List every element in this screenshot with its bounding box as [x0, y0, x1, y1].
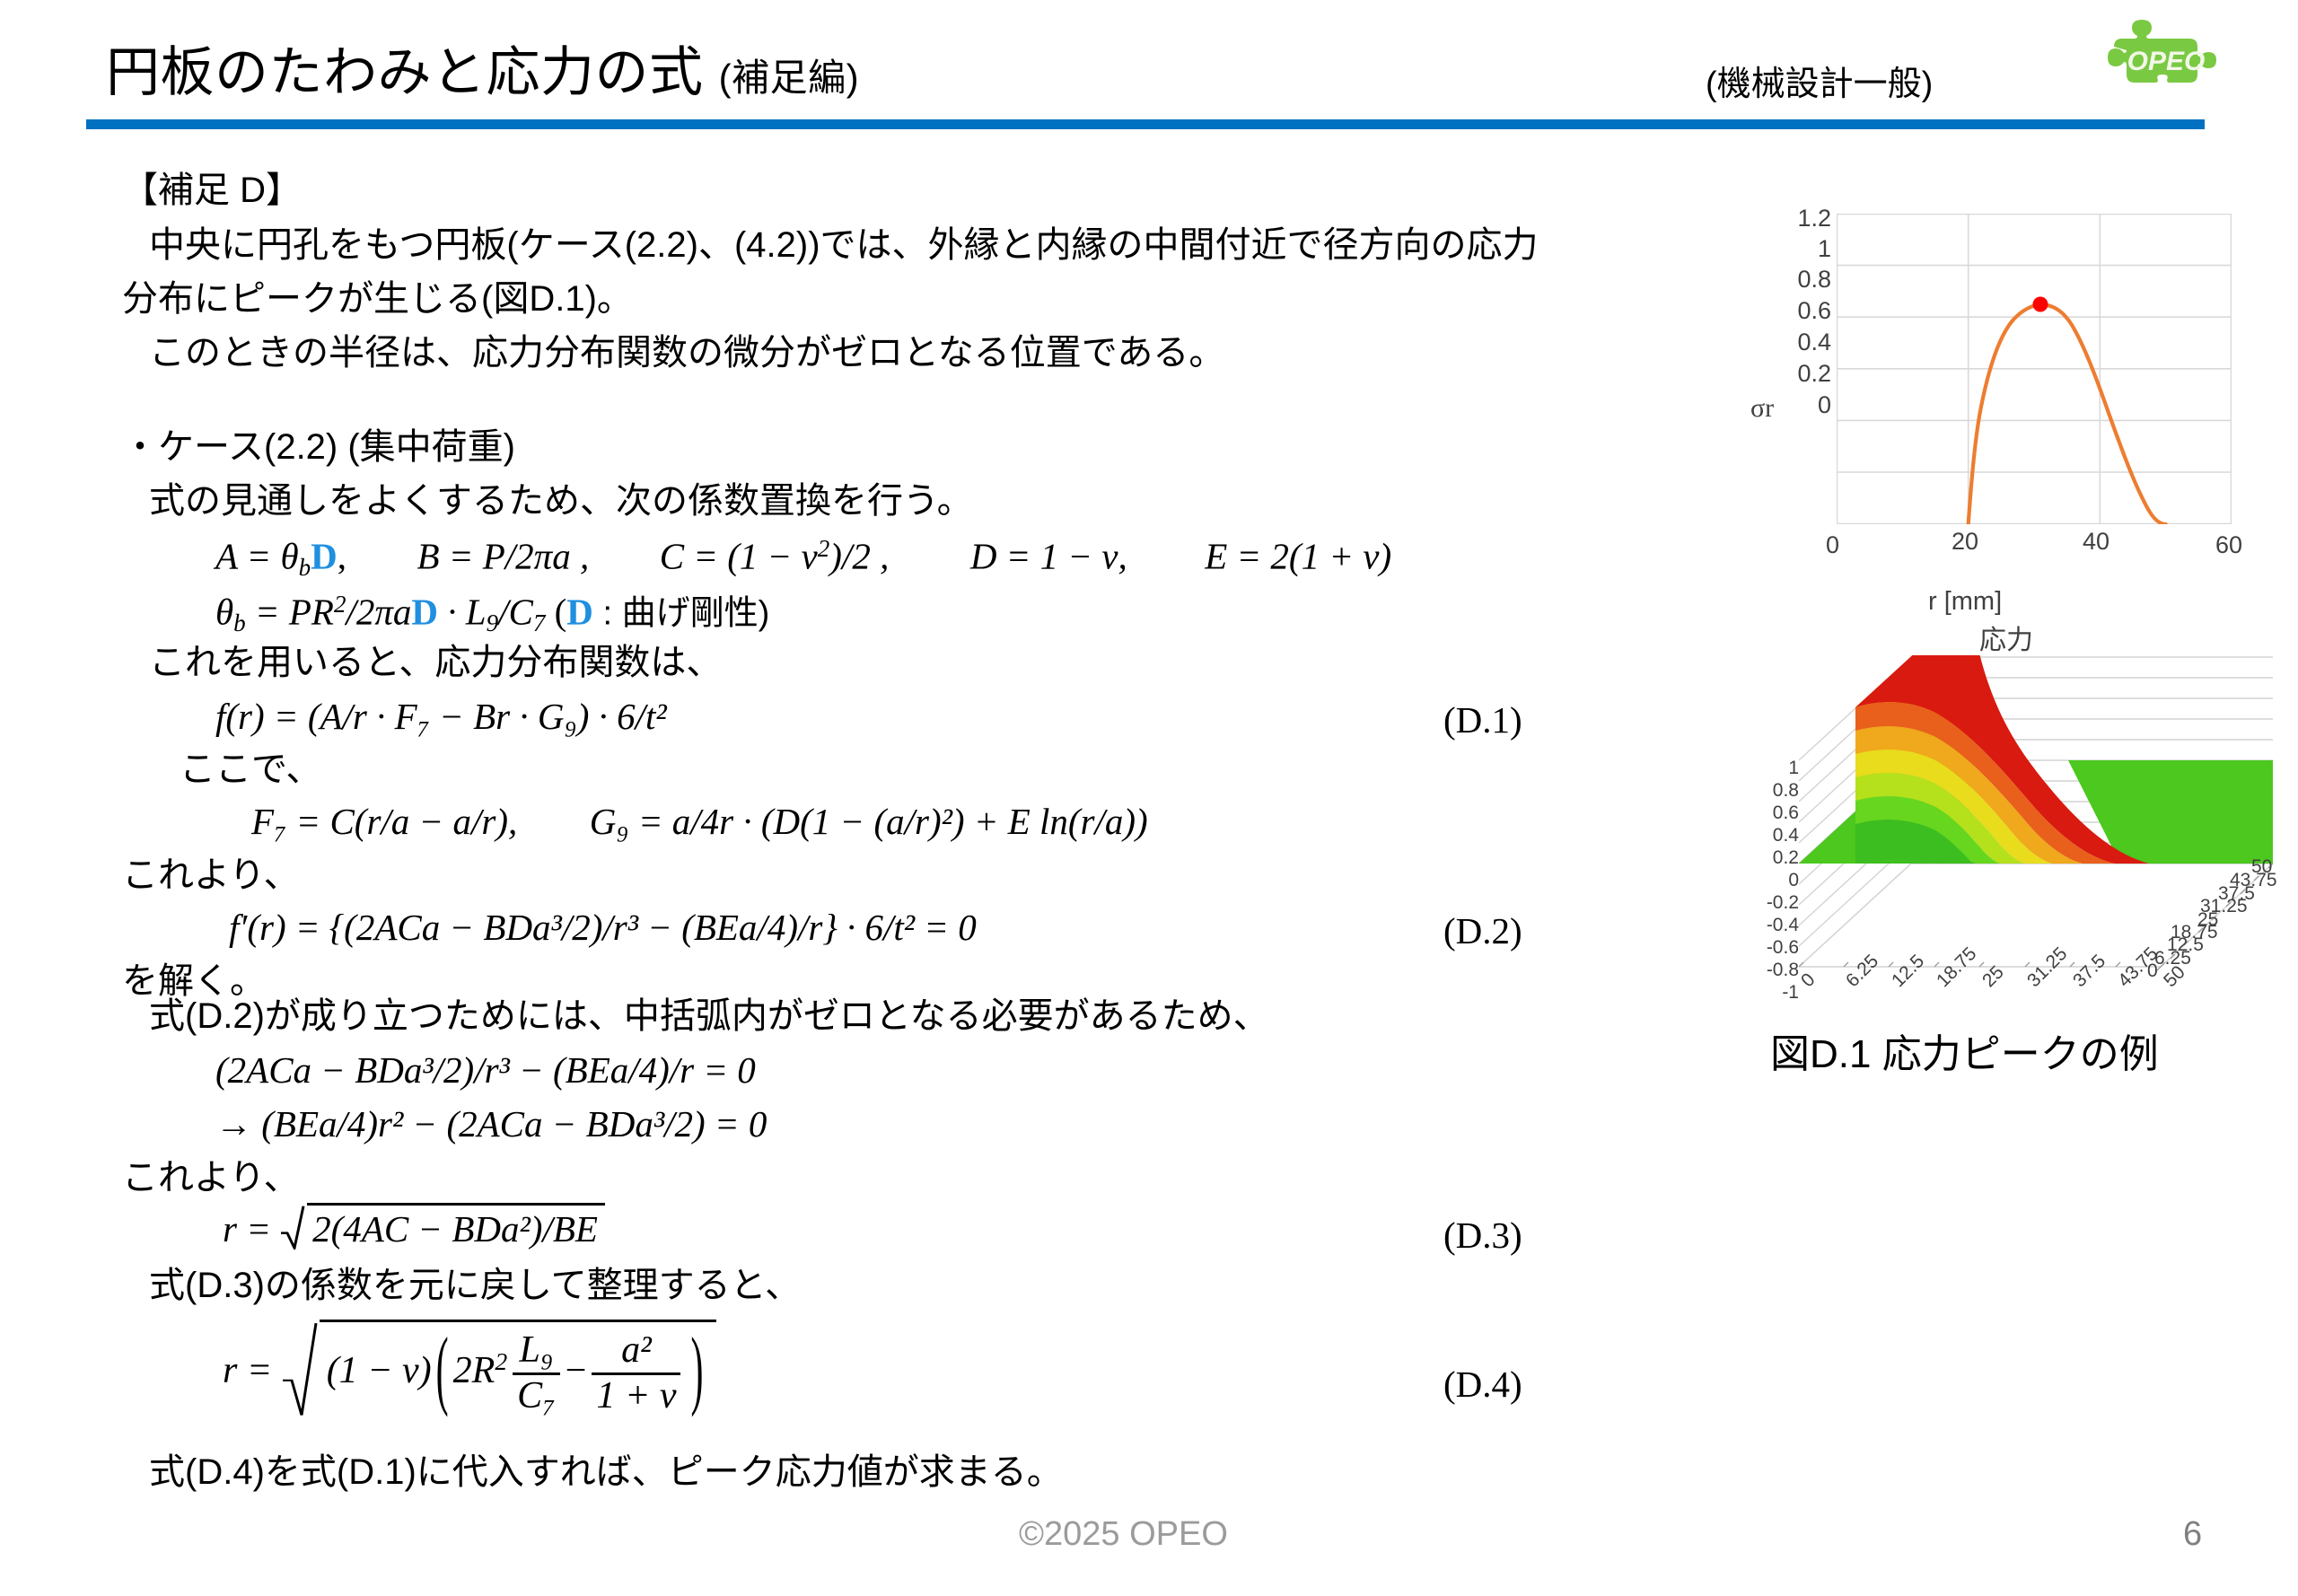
- x-tick-0: 0: [1826, 531, 1839, 559]
- theta-b-mid3: · L: [438, 592, 487, 633]
- eq-D4-inner-pre: 2R: [453, 1350, 496, 1391]
- eq-D4-number: (D.4): [1443, 1363, 1522, 1406]
- eq-D4-frac1-den: C₇: [513, 1372, 560, 1416]
- fraction-a2-1plusnu: a²1 + ν: [592, 1331, 680, 1416]
- copyright-text: ©2025 OPEO: [1019, 1515, 1228, 1554]
- eq-D4-frac1-num: L₉: [515, 1331, 558, 1372]
- slide-page: 円板のたわみと応力の式 (補足編) (機械設計一般) OPEO 【補足 D】 中…: [0, 0, 2298, 1596]
- kore-yori-1: これより、: [122, 857, 300, 893]
- page-title: 円板のたわみと応力の式 (補足編): [106, 29, 859, 107]
- case-heading: ・ケース(2.2) (集中荷重): [122, 429, 515, 465]
- theta-b-D2: D: [566, 592, 593, 633]
- eq-D4-frac2-num: a²: [617, 1331, 656, 1372]
- eq-D3-lhs: r =: [223, 1208, 280, 1250]
- sqrt-icon: 2(4AC − BDa²)/BE: [280, 1203, 605, 1248]
- coeff-C-post: )/2 ,: [829, 536, 889, 577]
- eq-D4-minus: −: [566, 1350, 587, 1391]
- eq-D1-number: (D.1): [1443, 698, 1522, 741]
- coeff-A: A = θ: [215, 536, 299, 577]
- z-tick-0_4: 0.4: [1752, 825, 1799, 846]
- theta-b-pre: θ: [215, 592, 233, 633]
- x-tick-60: 60: [2215, 531, 2242, 559]
- x-tick-20: 20: [1952, 528, 1978, 556]
- theta-b-mid2: /2πa: [346, 592, 411, 633]
- header-divider: [86, 119, 2205, 129]
- y-tick-1_2: 1.2: [1752, 205, 1831, 232]
- figure-caption: 図D.1 応力ピークの例: [1770, 1022, 2159, 1079]
- supplement-heading: 【補足 D】: [122, 172, 302, 208]
- opeo-logo: OPEO: [2103, 20, 2254, 99]
- chart-title: 応力: [1752, 618, 2260, 657]
- para1-line1: 中央に円孔をもつ円板(ケース(2.2)、(4.2))では、外縁と内縁の中間付近で…: [149, 227, 1539, 263]
- eq-D2-number: (D.2): [1443, 909, 1522, 952]
- theta-b-sub: b: [233, 609, 246, 636]
- radical-sign-big-icon: [282, 1321, 318, 1417]
- eq-D3: r = 2(4AC − BDa²)/BE: [223, 1203, 605, 1248]
- page-number: 6: [2183, 1515, 2202, 1554]
- logo-text: OPEO: [2127, 47, 2206, 76]
- y-axis-label: σr: [1750, 393, 1774, 424]
- chart-plot-area: [1837, 214, 2232, 524]
- coeff-A-D: D: [311, 536, 338, 577]
- eq-D4-radicand: (1 − ν)(2R2L₉C₇−a²1 + ν): [320, 1320, 717, 1416]
- theta-b-D: D: [411, 592, 438, 633]
- puzzle-piece-icon: OPEO: [2103, 20, 2254, 99]
- surface-y-tick-6_25: 6.25: [2154, 948, 2191, 969]
- eq-G9: G₉ = a/4r · (D(1 − (a/r)²) + E ln(r/a)): [590, 801, 1148, 842]
- eq-F7: F₇ = C(r/a − a/r),: [251, 801, 517, 842]
- koko-de: ここで、: [180, 751, 321, 787]
- surface-y-tick-0: 0: [2147, 960, 2158, 982]
- final-line: 式(D.4)を式(D.1)に代入すれば、ピーク応力値が求まる。: [149, 1454, 1063, 1490]
- z-tick-0_8: 0.8: [1752, 780, 1799, 802]
- eq-D4: r = (1 − ν)(2R2L₉C₇−a²1 + ν): [223, 1320, 716, 1416]
- coeff-C-sup: 2: [818, 535, 830, 562]
- z-tick-0: 0: [1752, 870, 1799, 891]
- eq-theta-b: θb = PR2/2πaD · L9/C7 (D : 曲げ剛性): [215, 592, 769, 636]
- stress-surface-chart: 1 0.8 0.6 0.4 0.2 0 -0.2 -0.4 -0.6 -0.8 …: [1752, 655, 2273, 1001]
- theta-b-sub7: 7: [533, 609, 546, 636]
- eq-D3-number: (D.3): [1443, 1214, 1522, 1257]
- eq-D2c: → (BEa/4)r² − (2ACa − BDa³/2) = 0: [215, 1106, 767, 1143]
- stress-line-chart: 1.2 1 0.8 0.6 0.4 0.2 0 σr 0 20 40 60 r: [1752, 215, 2260, 646]
- line-after-coeffs: これを用いると、応力分布関数は、: [149, 645, 722, 680]
- z-tick-neg0_2: -0.2: [1752, 892, 1799, 914]
- y-tick-1: 1: [1752, 235, 1831, 263]
- peak-marker: [2033, 297, 2048, 312]
- z-tick-neg1: -1: [1752, 982, 1799, 1004]
- coeff-A-sub: b: [299, 554, 311, 581]
- y-tick-0_4: 0.4: [1752, 329, 1831, 356]
- fraction-L9-C7: L₉C₇: [513, 1331, 560, 1416]
- theta-b-mid: = PR: [246, 592, 334, 633]
- z-tick-neg0_8: -0.8: [1752, 960, 1799, 981]
- para1-line3: このときの半径は、応力分布関数の微分がゼロとなる位置である。: [149, 335, 1224, 371]
- condition-line: 式(D.2)が成り立つためには、中括弧内がゼロとなる必要があるため、: [149, 998, 1269, 1034]
- x-axis-label: r [mm]: [1928, 587, 2002, 617]
- eq-coefficients: A = θbD, B = P/2πa , C = (1 − ν2)/2 , D …: [215, 537, 1391, 580]
- wo-toku: を解く。: [122, 963, 266, 999]
- eq-D2b: (2ACa − BDa³/2)/r³ − (BEa/4)/r = 0: [215, 1052, 756, 1089]
- eq-F7-G9: F₇ = C(r/a − a/r), G₉ = a/4r · (D(1 − (a…: [251, 803, 1148, 840]
- z-tick-0_6: 0.6: [1752, 802, 1799, 824]
- theta-b-open: (: [545, 592, 566, 633]
- y-tick-0_8: 0.8: [1752, 266, 1831, 294]
- theta-b-sub9: 9: [487, 609, 499, 636]
- page-title-sub: (補足編): [719, 57, 859, 99]
- x-tick-40: 40: [2083, 528, 2109, 556]
- z-tick-neg0_4: -0.4: [1752, 915, 1799, 936]
- case-line1: 式の見通しをよくするため、次の係数置換を行う。: [149, 483, 973, 519]
- eq-D4-factor: (1 − ν): [327, 1350, 432, 1391]
- coeff-C-pre: C = (1 − ν: [660, 536, 818, 577]
- restore-line: 式(D.3)の係数を元に戻して整理すると、: [149, 1267, 801, 1303]
- theta-b-mid4: /C: [498, 592, 533, 633]
- eq-D3-radicand: 2(4AC − BDa²)/BE: [307, 1203, 605, 1248]
- z-tick-1: 1: [1752, 758, 1799, 779]
- z-tick-0_2: 0.2: [1752, 847, 1799, 869]
- eq-D4-frac2-den: 1 + ν: [592, 1372, 680, 1416]
- eq-D4-inner-sup: 2: [495, 1347, 507, 1375]
- coeff-E: E = 2(1 + ν): [1205, 536, 1391, 577]
- coeff-A-comma: ,: [338, 536, 346, 577]
- coeff-B: B = P/2πa ,: [417, 536, 590, 577]
- coeff-D: D = 1 − ν,: [970, 536, 1127, 577]
- para1-line2: 分布にピークが生じる(図D.1)。: [122, 281, 633, 317]
- y-tick-0_6: 0.6: [1752, 297, 1831, 325]
- eq-D2: f′(r) = {(2ACa − BDa³/2)/r³ − (BEa/4)/r}…: [229, 909, 977, 946]
- radical-sign-icon: [280, 1205, 305, 1250]
- page-title-main: 円板のたわみと応力の式: [106, 42, 704, 102]
- eq-D4-lhs: r =: [223, 1350, 282, 1391]
- z-tick-neg0_6: -0.6: [1752, 937, 1799, 959]
- theta-b-sup: 2: [334, 591, 346, 618]
- sqrt-big-icon: (1 − ν)(2R2L₉C₇−a²1 + ν): [282, 1320, 717, 1416]
- kore-yori-2: これより、: [122, 1160, 300, 1196]
- left-paren-icon: (: [436, 1326, 449, 1415]
- y-tick-0_2: 0.2: [1752, 360, 1831, 388]
- right-paren-icon: ): [690, 1326, 703, 1415]
- eq-D1: f(r) = (A/r · F₇ − Br · G₉) · 6/t²: [215, 698, 667, 735]
- header-subject: (機械設計一般): [1706, 56, 1933, 105]
- theta-b-close: : 曲げ剛性): [593, 595, 769, 633]
